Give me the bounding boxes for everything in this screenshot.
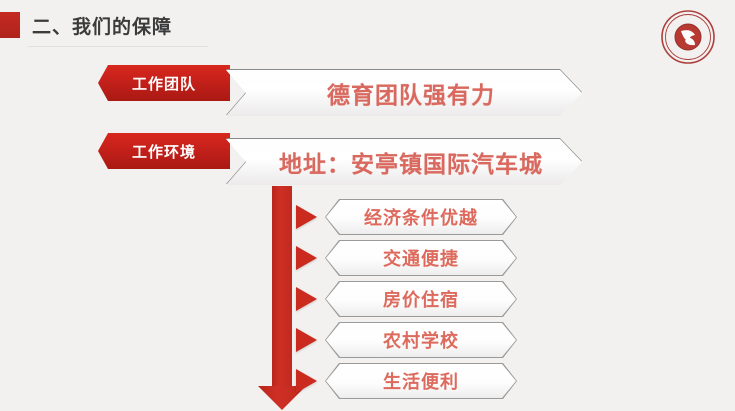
tag-label: 工作环境 [132, 141, 196, 162]
banner-work-environment[interactable]: 地址：安亭镇国际汽车城 [226, 139, 582, 185]
triangle-right-icon [296, 328, 317, 352]
list-item-label: 交通便捷 [383, 245, 459, 271]
pill-rural-school[interactable]: 农村学校 [326, 323, 516, 357]
slide-canvas: 二、我们的保障 工作团队 德育团队强有力 工作环境 地址：安亭镇国际汽车城 [0, 0, 735, 411]
tag-work-environment[interactable]: 工作环境 [98, 133, 230, 169]
pill-economy[interactable]: 经济条件优越 [326, 200, 516, 234]
pill-transport[interactable]: 交通便捷 [326, 241, 516, 275]
list-item-label: 生活便利 [383, 368, 459, 394]
banner-work-team[interactable]: 德育团队强有力 [226, 70, 582, 116]
pill-housing[interactable]: 房价住宿 [326, 282, 516, 316]
tag-work-team[interactable]: 工作团队 [98, 65, 230, 101]
triangle-right-icon [296, 205, 317, 229]
triangle-right-icon [296, 369, 317, 393]
tag-label: 工作团队 [132, 73, 196, 94]
triangle-right-icon [296, 287, 317, 311]
triangle-right-icon [296, 246, 317, 270]
pill-convenient-life[interactable]: 生活便利 [326, 364, 516, 398]
list-item-label: 农村学校 [383, 327, 459, 353]
red-square-marker-icon [0, 12, 20, 38]
list-item-label: 房价住宿 [383, 286, 459, 312]
banner-label: 德育团队强有力 [313, 76, 495, 110]
list-item-label: 经济条件优越 [364, 204, 478, 230]
banner-label: 地址：安亭镇国际汽车城 [265, 145, 543, 179]
down-arrow-icon [272, 186, 292, 388]
school-emblem-icon [659, 8, 717, 66]
title-underline [28, 46, 208, 47]
page-title: 二、我们的保障 [32, 12, 172, 39]
